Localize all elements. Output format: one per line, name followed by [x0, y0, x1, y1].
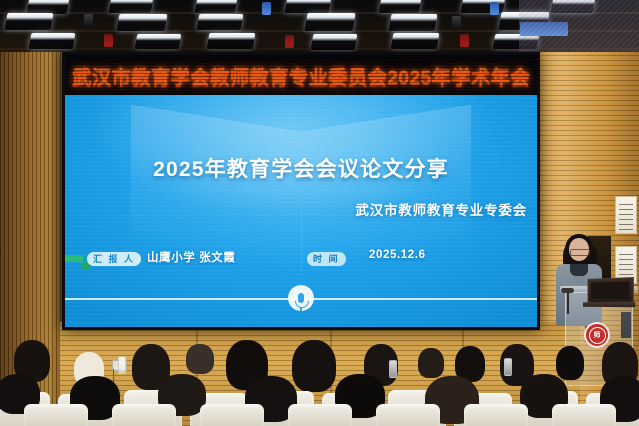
- stage-light: [104, 34, 113, 47]
- ceiling: [0, 0, 639, 58]
- audience-head: [418, 348, 444, 378]
- audience-head: [556, 346, 584, 380]
- projection-screen: 武汉市教育学会教师教育专业委员会2025年学术年会 2025年教育学会会议论文分…: [62, 52, 540, 330]
- presentation-slide: 2025年教育学会会议论文分享 武汉市教师教育专业专委会 汇 报 人 山鹰小学 …: [65, 95, 537, 327]
- ceiling-light-panel: [29, 33, 76, 49]
- stage-light: [460, 34, 469, 47]
- ceiling-light-panel: [27, 0, 70, 14]
- ceiling-light-panel: [195, 0, 238, 13]
- water-bottle: [389, 360, 397, 378]
- ceiling-light-panel: [311, 34, 358, 50]
- seat: [200, 404, 264, 426]
- seat: [288, 404, 352, 426]
- laptop-base: [583, 302, 635, 307]
- laptop-device: [588, 277, 634, 305]
- stage-light: [490, 2, 499, 15]
- ceiling-light-panel: [379, 0, 422, 13]
- wall-scroll-poster: [615, 196, 637, 234]
- water-bottle: [118, 356, 126, 374]
- eyeglasses-icon: [570, 249, 590, 256]
- ceiling-light-panel: [197, 14, 244, 30]
- audience: [0, 338, 639, 426]
- ceiling-light-panel: [109, 0, 154, 13]
- ceiling-light-panel: [285, 0, 332, 13]
- audience-head: [186, 344, 214, 374]
- led-banner: 武汉市教育学会教师教育专业委员会2025年学术年会: [65, 55, 537, 95]
- ceiling-light-panel: [5, 13, 54, 30]
- audience-head: [292, 340, 336, 392]
- slide-scanlines: [65, 95, 537, 327]
- auditorium-scene: 武汉市教育学会教师教育专业委员会2025年学术年会 2025年教育学会会议论文分…: [0, 0, 639, 426]
- ceiling-light-panel: [135, 34, 182, 49]
- stage-light: [285, 35, 294, 48]
- seat: [24, 404, 88, 426]
- podium-microphone-stand: [567, 292, 569, 314]
- podium-microphone-head: [561, 288, 574, 293]
- ceiling-light-panel: [389, 14, 438, 31]
- seat: [376, 404, 440, 426]
- ceiling-light-panel: [207, 33, 256, 49]
- ceiling-light-panel: [391, 33, 440, 49]
- ceiling-light-panel: [304, 13, 355, 31]
- led-banner-text: 武汉市教育学会教师教育专业委员会2025年学术年会: [72, 61, 530, 90]
- seat: [464, 404, 528, 426]
- ceiling-light-panel: [117, 14, 168, 31]
- seat: [552, 404, 616, 426]
- stage-light: [84, 14, 93, 27]
- seat: [112, 404, 176, 426]
- water-bottle: [504, 358, 512, 376]
- stage-light: [262, 2, 271, 15]
- stage-light: [452, 16, 461, 29]
- ceiling-wood-trim: [519, 0, 639, 58]
